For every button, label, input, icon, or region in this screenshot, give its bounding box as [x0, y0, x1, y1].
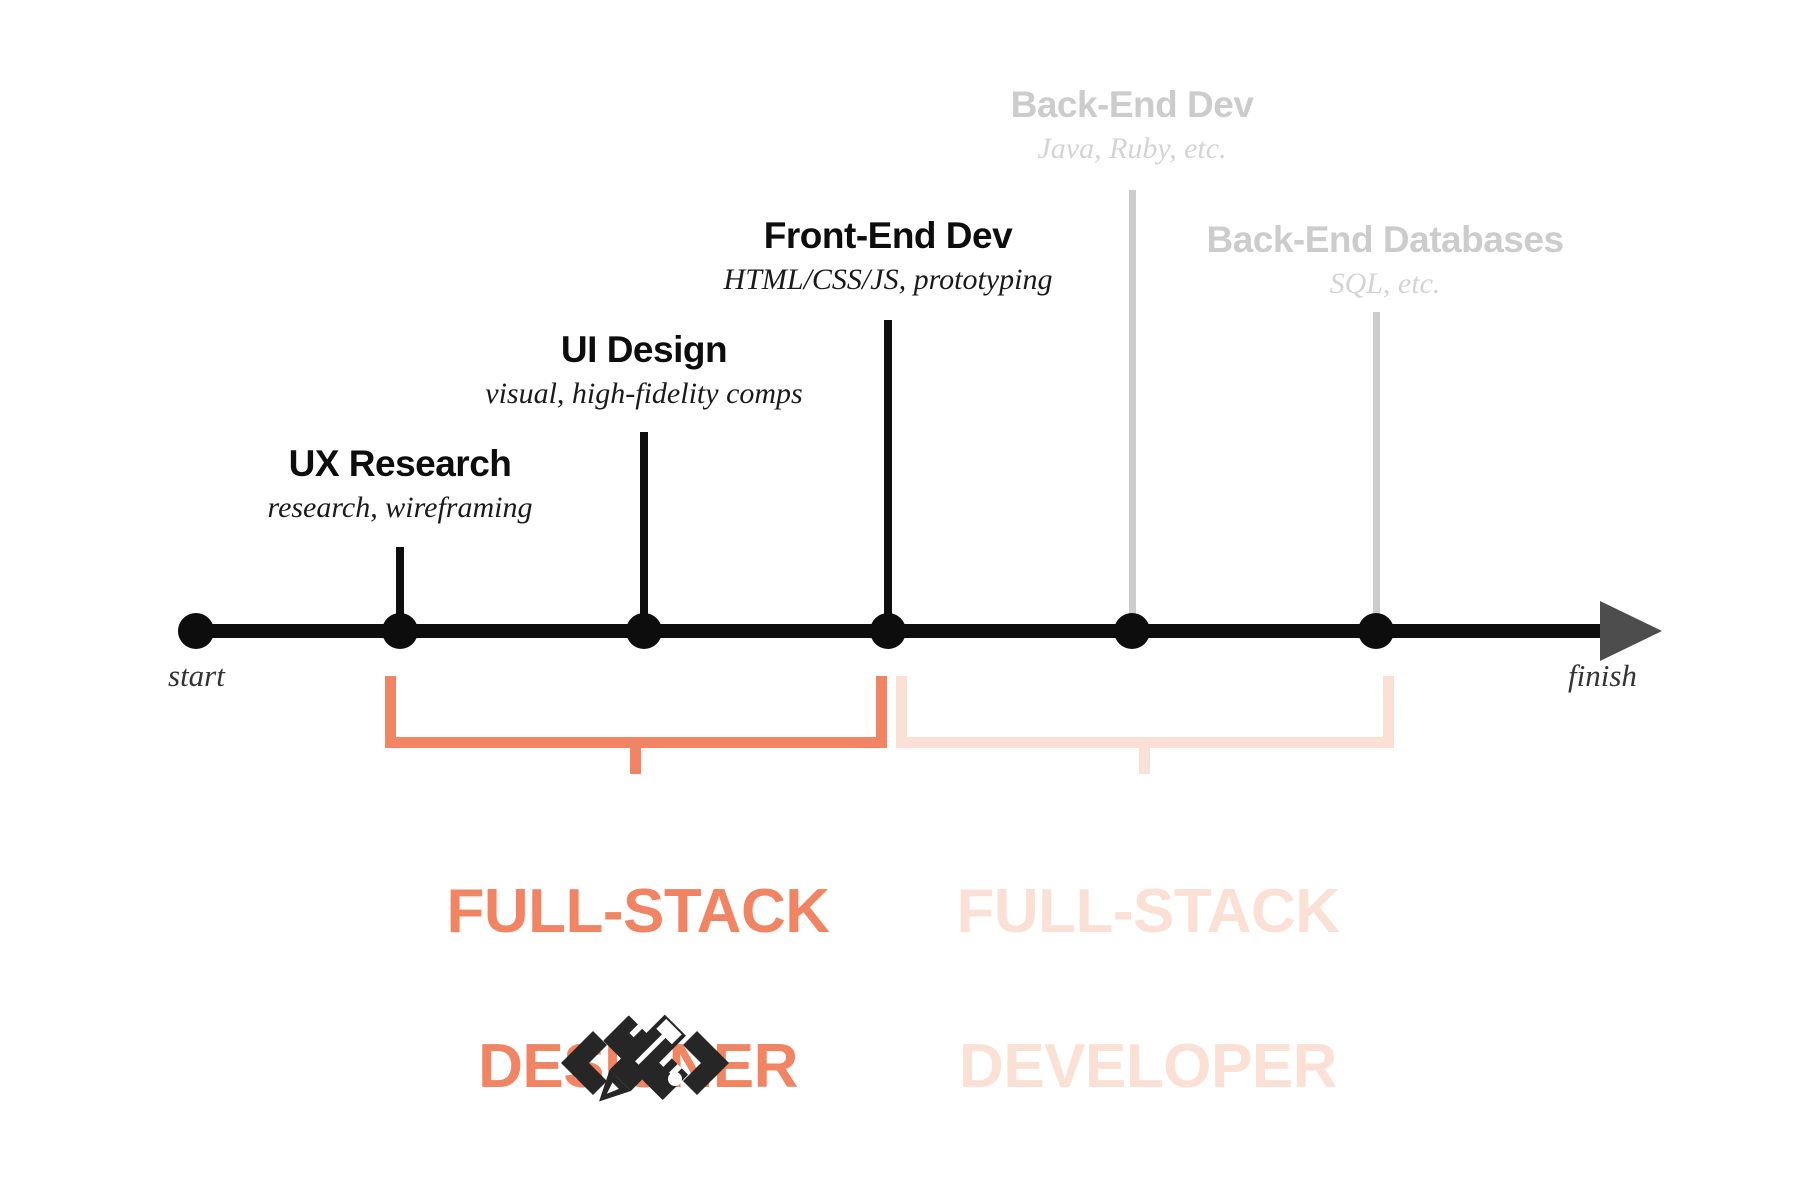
milestone-label-front-end-dev: Front-End Dev HTML/CSS/JS, prototyping: [724, 216, 1053, 298]
timeline-node-back-end-dev[interactable]: [1114, 613, 1150, 649]
bracket-stem: [630, 748, 641, 774]
milestone-title: Back-End Databases: [1206, 220, 1563, 261]
stem-back-end-databases: [1373, 312, 1380, 631]
milestone-label-ui-design: UI Design visual, high-fidelity comps: [485, 330, 802, 412]
group-title-full-stack-developer: FULL-STACK DEVELOPER: [957, 795, 1340, 1183]
milestone-title: UX Research: [268, 444, 533, 485]
milestone-title: UI Design: [485, 330, 802, 371]
milestone-title: Back-End Dev: [1011, 85, 1254, 126]
group-title-line-1: FULL-STACK: [957, 873, 1340, 951]
axis-start-label: start: [168, 658, 225, 694]
timeline-arrow-icon: [1600, 601, 1662, 661]
milestone-label-back-end-dev: Back-End Dev Java, Ruby, etc.: [1011, 85, 1254, 167]
stem-front-end-dev: [884, 320, 892, 631]
axis-finish-label: finish: [1568, 658, 1637, 694]
group-title-line-2: DEVELOPER: [957, 1028, 1340, 1106]
milestone-label-back-end-databases: Back-End Databases SQL, etc.: [1206, 220, 1563, 302]
stem-ui-design: [640, 432, 648, 631]
timeline-node-back-end-databases[interactable]: [1358, 613, 1394, 649]
pencil-ruler-code-icon: [555, 995, 735, 1120]
milestone-label-ux-research: UX Research research, wireframing: [268, 444, 533, 526]
group-title-full-stack-designer: FULL-STACK DESIGNER: [447, 795, 830, 1183]
timeline-node-ux-research[interactable]: [382, 613, 418, 649]
milestone-subtitle: visual, high-fidelity comps: [485, 375, 802, 413]
group-title-line-1: FULL-STACK: [447, 873, 830, 951]
timeline-node-front-end-dev[interactable]: [870, 613, 906, 649]
infographic-canvas: UX Research research, wireframing UI Des…: [0, 0, 1800, 1186]
milestone-subtitle: HTML/CSS/JS, prototyping: [724, 261, 1053, 299]
bracket-bar: [385, 737, 887, 748]
timeline-node-ui-design[interactable]: [626, 613, 662, 649]
milestone-subtitle: research, wireframing: [268, 489, 533, 527]
bracket-bar: [896, 737, 1394, 748]
milestone-subtitle: Java, Ruby, etc.: [1011, 130, 1254, 168]
stem-back-end-dev: [1129, 190, 1136, 631]
milestone-subtitle: SQL, etc.: [1206, 265, 1563, 303]
bracket-stem: [1139, 748, 1150, 774]
timeline-node-start[interactable]: [178, 613, 214, 649]
milestone-title: Front-End Dev: [724, 216, 1053, 257]
